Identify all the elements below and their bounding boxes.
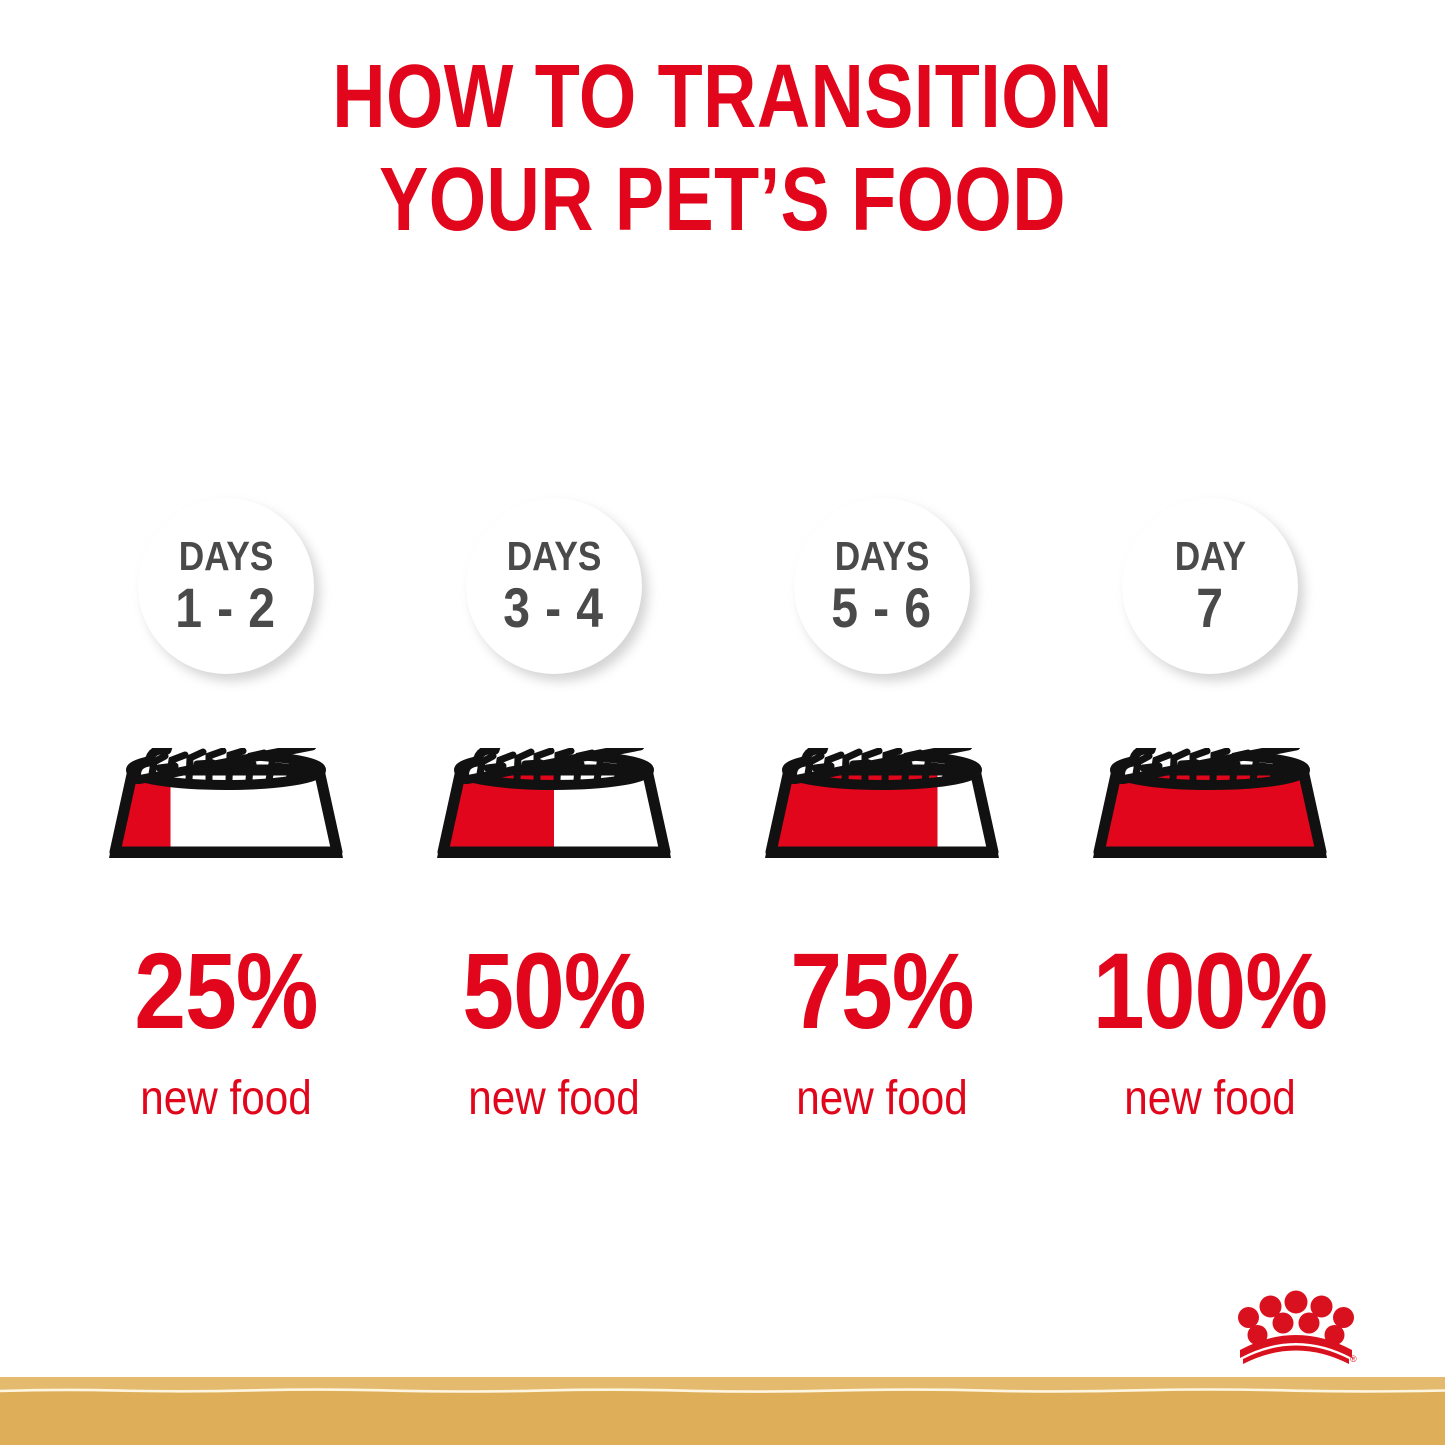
percent-caption: new food [743, 1074, 1021, 1124]
percent-caption: new food [87, 1074, 365, 1124]
percent-caption: new food [1071, 1074, 1349, 1124]
percent-value: 25% [90, 936, 362, 1046]
steps-container: DAYS 1 - 2 [0, 0, 1445, 1445]
royal-canin-crown-logo: ® [1228, 1288, 1364, 1372]
day-badge-3: DAYS 5 - 6 [794, 498, 970, 674]
day-word-label: DAY [1174, 535, 1245, 578]
percent-value: 50% [418, 936, 690, 1046]
day-badge-4: DAY 7 [1122, 498, 1298, 674]
dog-food-bowl-icon [749, 718, 1015, 878]
percent-value: 100% [1074, 936, 1346, 1046]
step-column-3: DAYS 5 - 6 [724, 0, 1040, 1445]
day-number-label: 7 [1196, 578, 1224, 638]
day-word-label: DAYS [507, 535, 602, 578]
transition-infographic-page: HOW TO TRANSITION YOUR PET’S FOOD DAYS 1… [0, 0, 1445, 1445]
percent-block-4: 100% new food [1052, 936, 1368, 1124]
registered-mark: ® [1350, 1354, 1357, 1364]
dog-food-bowl-icon [1077, 718, 1343, 878]
step-column-2: DAYS 3 - 4 [396, 0, 712, 1445]
step-column-1: DAYS 1 - 2 [68, 0, 384, 1445]
percent-value: 75% [746, 936, 1018, 1046]
day-number-label: 1 - 2 [176, 578, 277, 638]
percent-caption: new food [415, 1074, 693, 1124]
percent-block-3: 75% new food [724, 936, 1040, 1124]
step-column-4: DAY 7 [1052, 0, 1368, 1445]
day-word-label: DAYS [179, 535, 274, 578]
day-number-label: 3 - 4 [504, 578, 605, 638]
day-badge-1: DAYS 1 - 2 [138, 498, 314, 674]
day-number-label: 5 - 6 [832, 578, 933, 638]
percent-block-1: 25% new food [68, 936, 384, 1124]
footer-gold-band [0, 1377, 1445, 1445]
footer-white-streak [0, 1388, 1445, 1393]
percent-block-2: 50% new food [396, 936, 712, 1124]
dog-food-bowl-icon [421, 718, 687, 878]
day-word-label: DAYS [835, 535, 930, 578]
dog-food-bowl-icon [93, 718, 359, 878]
day-badge-2: DAYS 3 - 4 [466, 498, 642, 674]
